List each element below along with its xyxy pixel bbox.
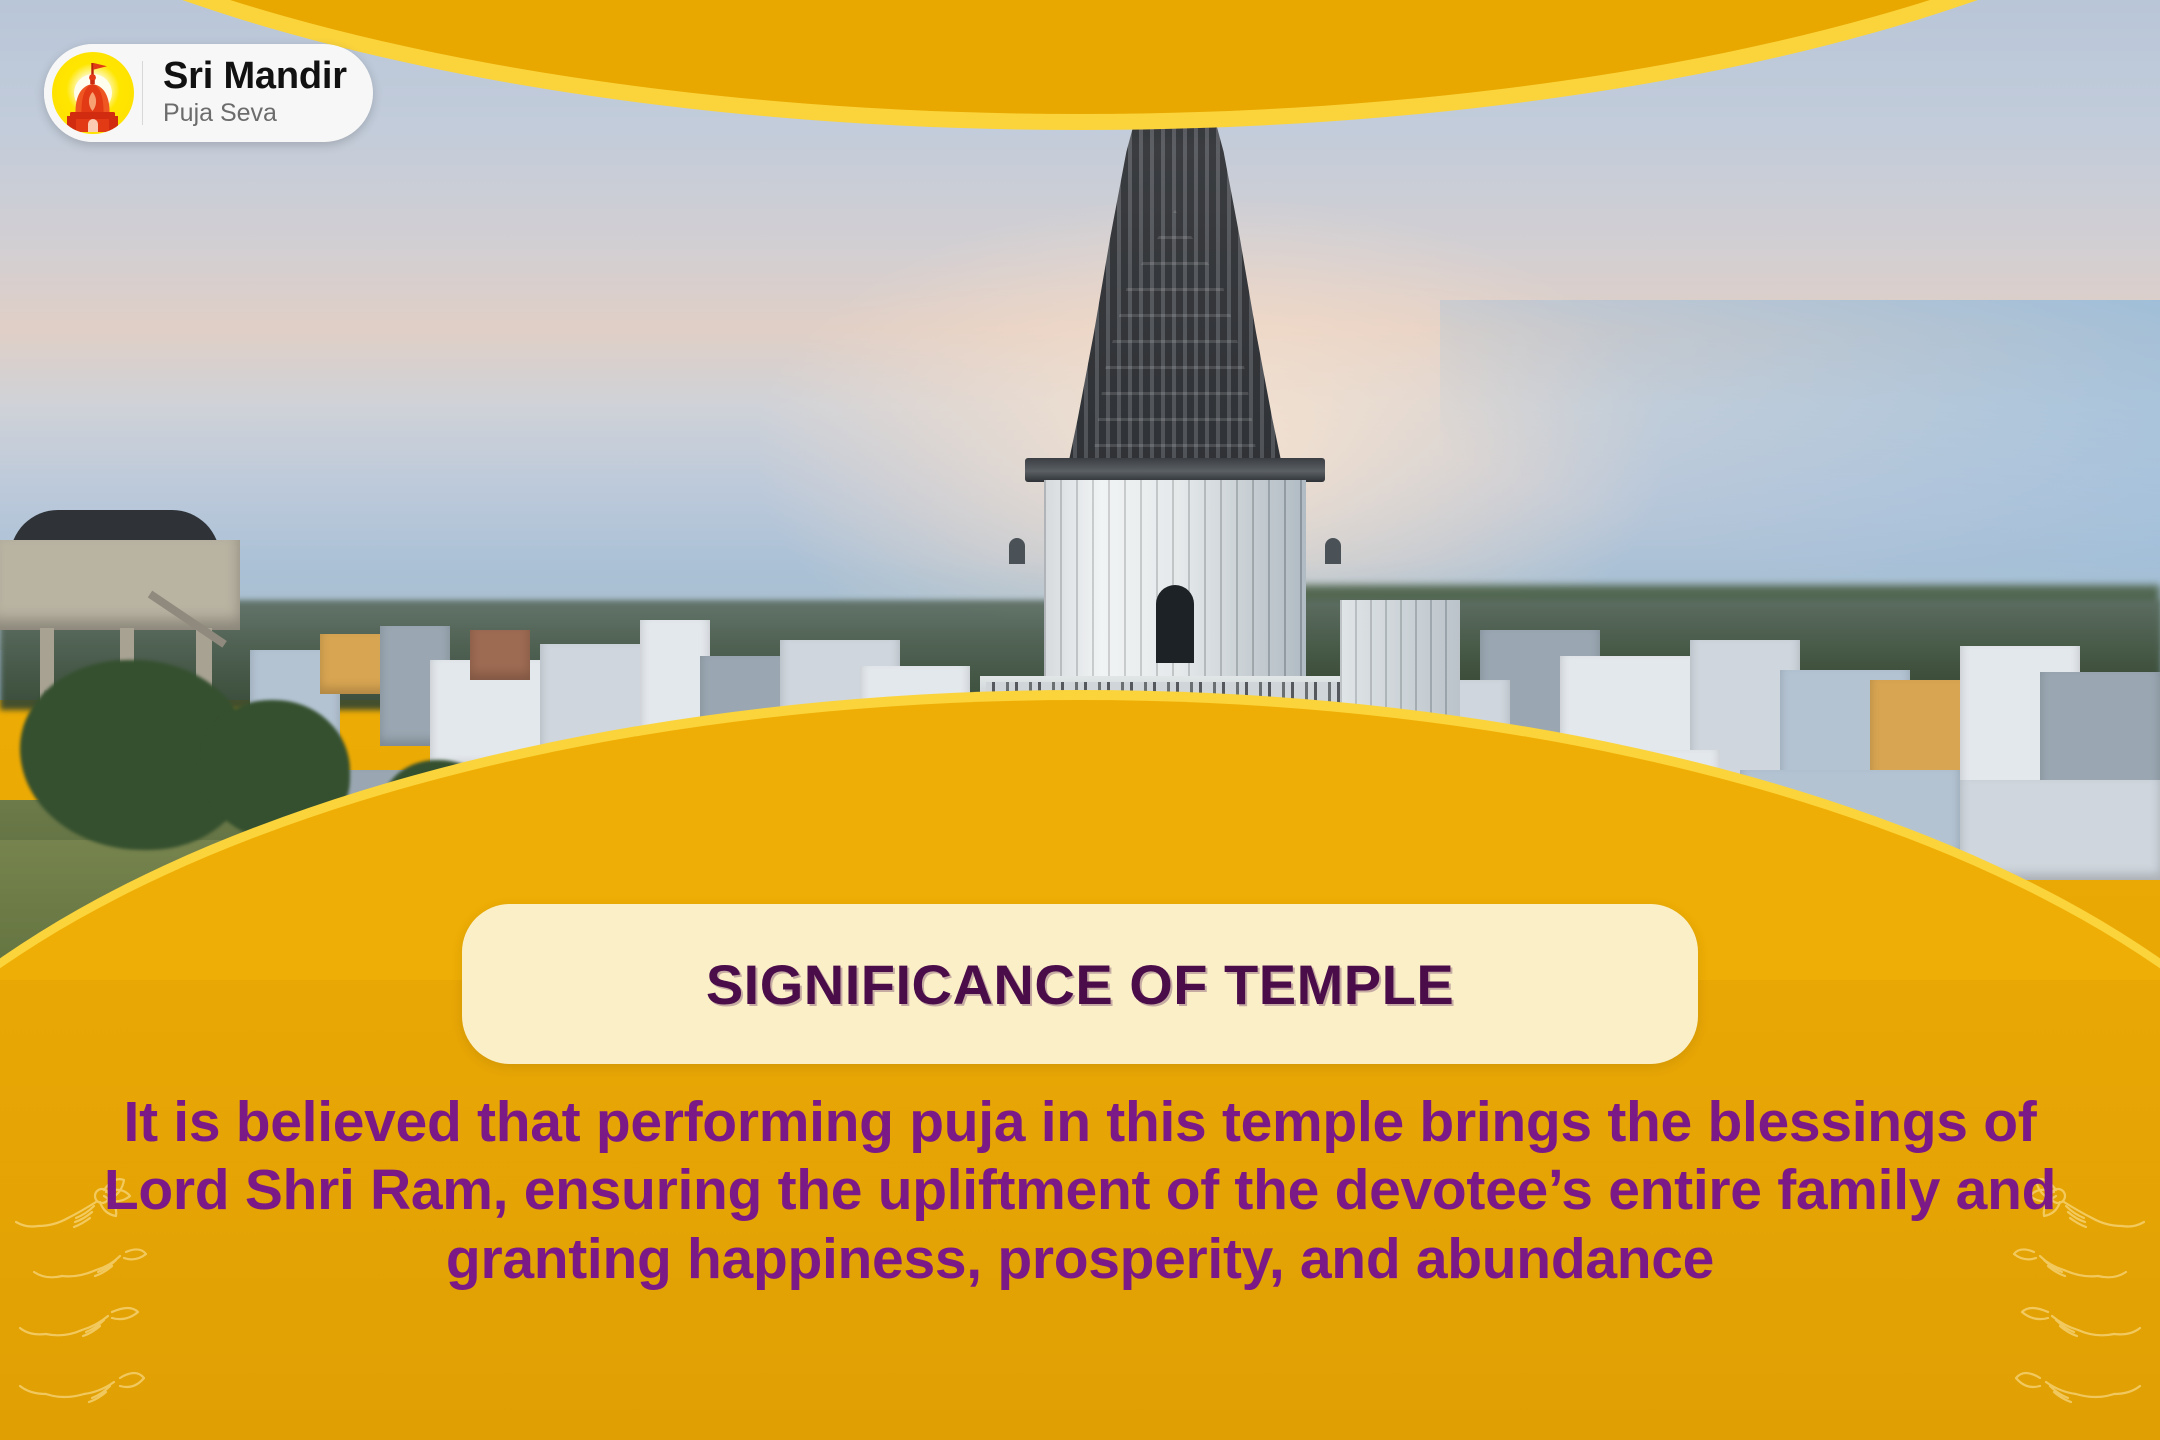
significance-paragraph: It is believed that performing puja in t… [90, 1088, 2070, 1293]
brand-tagline: Puja Seva [163, 98, 347, 129]
temple-photo [0, 0, 2160, 980]
brand-name: Sri Mandir [163, 57, 347, 97]
brand-logo-badge [44, 44, 142, 142]
title-card: SIGNIFICANCE OF TEMPLE [462, 904, 1698, 1064]
section-heading: SIGNIFICANCE OF TEMPLE [706, 952, 1454, 1017]
poster-canvas: Sri Mandir Puja Seva SIGNIFICANCE OF TEM… [0, 0, 2160, 1440]
brand-logo-pill[interactable]: Sri Mandir Puja Seva [44, 44, 373, 142]
temple-dome-icon [52, 52, 134, 134]
